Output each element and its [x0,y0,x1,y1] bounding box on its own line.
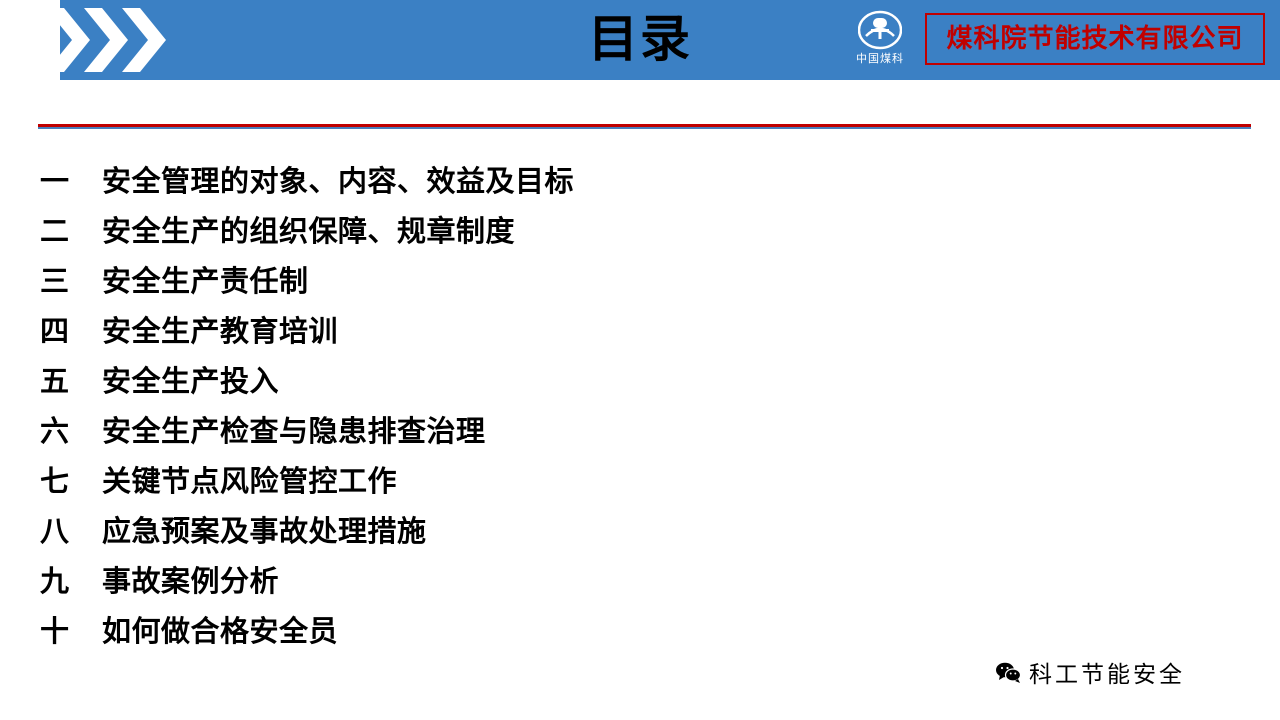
company-name-box: 煤科院节能技术有限公司 [925,13,1265,65]
toc-item-7[interactable]: 七 关键节点风险管控工作 [40,458,1140,508]
toc-item-number: 十 [40,608,102,650]
toc-item-1[interactable]: 一 安全管理的对象、内容、效益及目标 [40,158,1140,208]
table-of-contents: 一 安全管理的对象、内容、效益及目标 二 安全生产的组织保障、规章制度 三 安全… [40,158,1140,658]
toc-item-label: 安全管理的对象、内容、效益及目标 [102,158,574,200]
toc-item-2[interactable]: 二 安全生产的组织保障、规章制度 [40,208,1140,258]
toc-item-label: 应急预案及事故处理措施 [102,508,427,550]
toc-item-label: 安全生产的组织保障、规章制度 [102,208,515,250]
wechat-icon [995,661,1021,683]
toc-item-number: 一 [40,158,102,200]
toc-item-label: 安全生产检查与隐患排查治理 [102,408,486,450]
toc-item-6[interactable]: 六 安全生产检查与隐患排查治理 [40,408,1140,458]
toc-item-label: 安全生产责任制 [102,258,309,300]
toc-item-number: 七 [40,458,102,500]
toc-item-10[interactable]: 十 如何做合格安全员 [40,608,1140,658]
toc-item-label: 关键节点风险管控工作 [102,458,397,500]
footer-watermark-label: 科工节能安全 [1029,655,1185,689]
brand-logo: 中国煤科 [845,8,915,72]
toc-item-3[interactable]: 三 安全生产责任制 [40,258,1140,308]
company-name: 煤科院节能技术有限公司 [927,15,1263,63]
toc-item-number: 四 [40,308,102,350]
toc-item-label: 安全生产投入 [102,358,279,400]
toc-item-number: 九 [40,558,102,600]
brand-logo-caption: 中国煤科 [845,50,915,66]
toc-item-5[interactable]: 五 安全生产投入 [40,358,1140,408]
coal-science-logo-icon [858,10,902,50]
toc-item-label: 事故案例分析 [102,558,279,600]
toc-item-4[interactable]: 四 安全生产教育培训 [40,308,1140,358]
toc-item-number: 五 [40,358,102,400]
toc-item-label: 安全生产教育培训 [102,308,338,350]
toc-item-number: 二 [40,208,102,250]
divider-blue [38,127,1251,129]
toc-item-8[interactable]: 八 应急预案及事故处理措施 [40,508,1140,558]
toc-item-number: 三 [40,258,102,300]
toc-item-number: 六 [40,408,102,450]
slide-header-bar: 目录 中国煤科 煤科院节能技术有限公司 [0,0,1280,80]
toc-item-label: 如何做合格安全员 [102,608,338,650]
toc-item-9[interactable]: 九 事故案例分析 [40,558,1140,608]
toc-item-number: 八 [40,508,102,550]
footer-watermark: 科工节能安全 [995,652,1270,692]
